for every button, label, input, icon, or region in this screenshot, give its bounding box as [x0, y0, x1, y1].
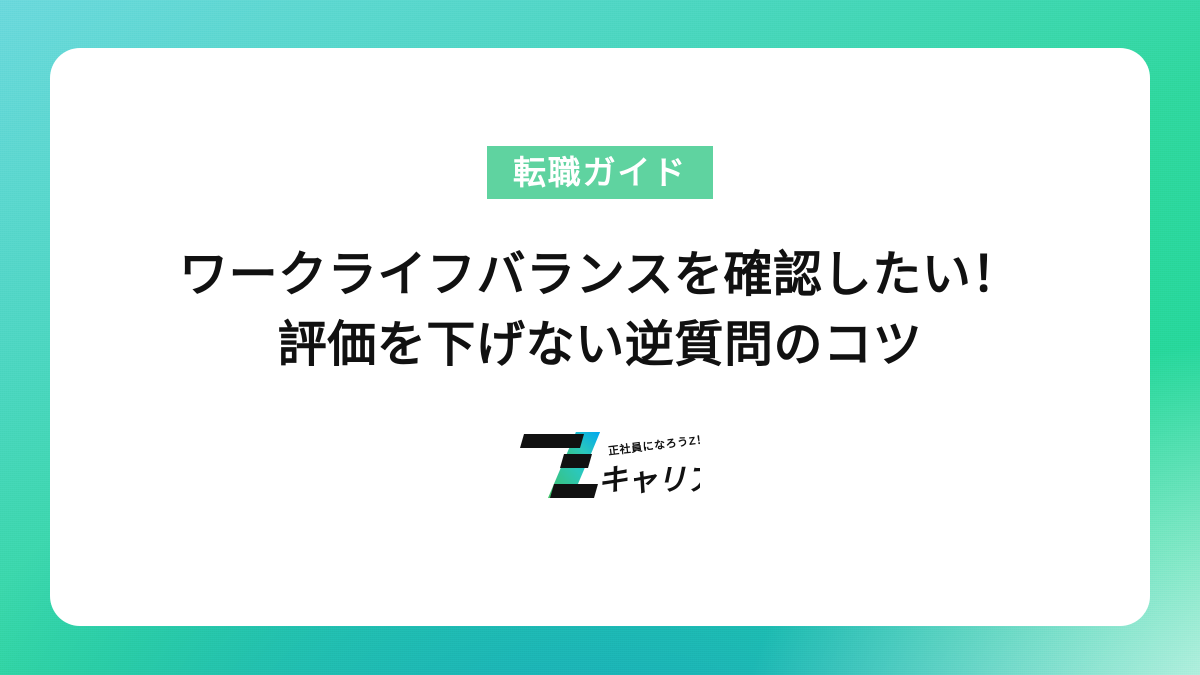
ogp-card-canvas: 転職ガイド ワークライフバランスを確認したい！ 評価を下げない逆質問のコツ Z … — [0, 0, 1200, 675]
page-title: ワークライフバランスを確認したい！ 評価を下げない逆質問のコツ — [179, 241, 1021, 380]
brand-logo-wordmark: キャリア — [596, 464, 700, 497]
svg-text:キャリア: キャリア — [596, 464, 700, 497]
page-title-line-2: 評価を下げない逆質問のコツ — [179, 311, 1021, 381]
category-badge: 転職ガイド — [487, 146, 713, 199]
page-title-line-1: ワークライフバランスを確認したい！ — [179, 241, 1021, 311]
svg-text:正社員になろうZ！: 正社員になろうZ！ — [607, 432, 700, 458]
content-card: 転職ガイド ワークライフバランスを確認したい！ 評価を下げない逆質問のコツ Z … — [50, 48, 1150, 626]
brand-logo-tagline: 正社員になろうZ！ — [607, 432, 700, 458]
brand-logo: Z 正社員になろうZ！ キャリア — [500, 424, 700, 510]
